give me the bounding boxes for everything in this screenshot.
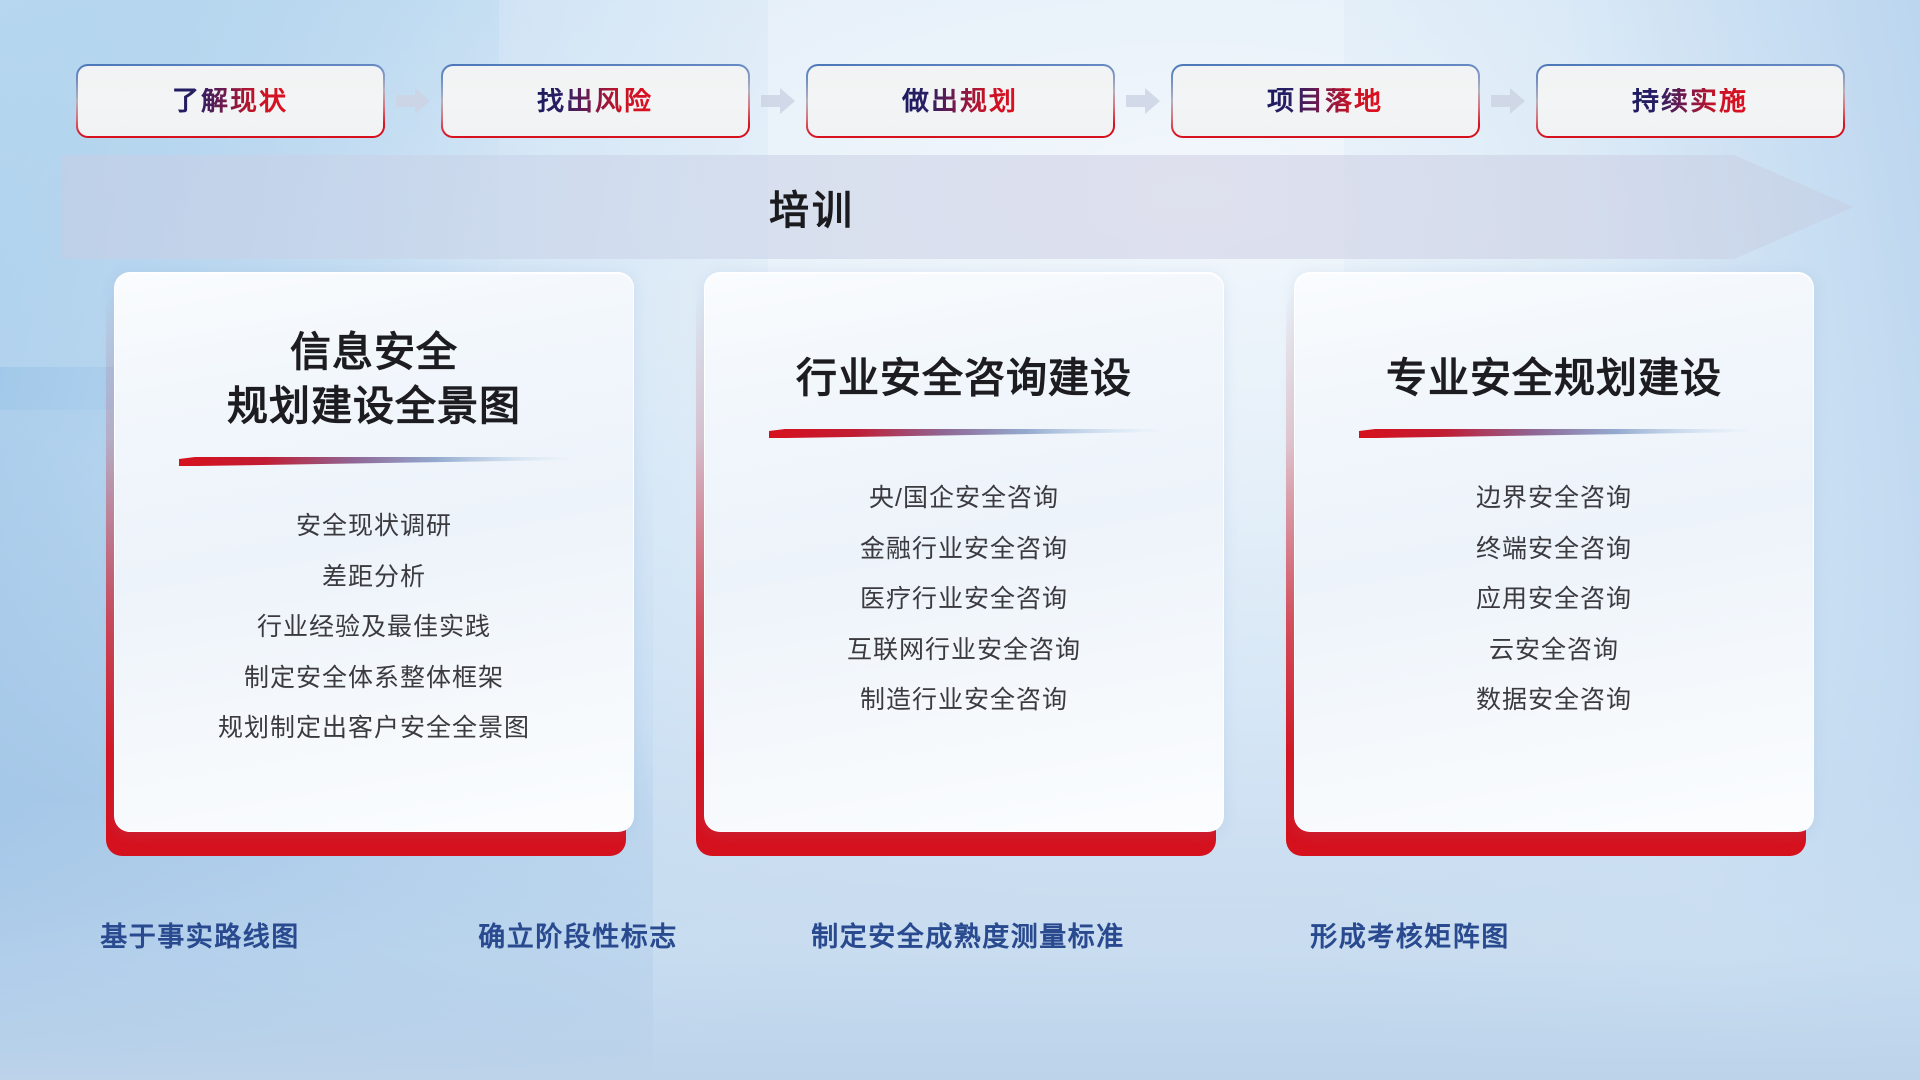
card-title: 信息安全 规划建设全景图	[141, 325, 607, 433]
step-button-2[interactable]: 找出风险	[443, 66, 748, 136]
list-item: 数据安全咨询	[1476, 679, 1632, 722]
step-label: 项目落地	[1267, 88, 1383, 115]
list-item: 安全现状调研	[296, 505, 452, 548]
card-body: 专业安全规划建设边界安全咨询终端安全咨询应用安全咨询云安全咨询数据安全咨询	[1294, 272, 1814, 832]
step-button-5[interactable]: 持续实施	[1538, 66, 1843, 136]
step-label: 持续实施	[1632, 88, 1748, 115]
card-item-list: 边界安全咨询终端安全咨询应用安全咨询云安全咨询数据安全咨询	[1321, 477, 1787, 722]
bottom-label-1: 基于事实路线图	[100, 915, 300, 954]
list-item: 医疗行业安全咨询	[860, 578, 1068, 621]
list-item: 金融行业安全咨询	[860, 528, 1068, 571]
training-banner: 培训	[62, 155, 1854, 259]
bottom-label-3: 制定安全成熟度测量标准	[811, 915, 1125, 954]
card-item-list: 安全现状调研差距分析行业经验及最佳实践制定安全体系整体框架规划制定出客户安全全景…	[141, 505, 607, 750]
card-body: 行业安全咨询建设央/国企安全咨询金融行业安全咨询医疗行业安全咨询互联网行业安全咨…	[704, 272, 1224, 832]
process-steps: 了解现状找出风险做出规划项目落地持续实施	[78, 66, 1843, 136]
tapered-divider-icon	[1359, 429, 1749, 441]
step-button-1[interactable]: 了解现状	[78, 66, 383, 136]
card-3[interactable]: 专业安全规划建设边界安全咨询终端安全咨询应用安全咨询云安全咨询数据安全咨询	[1286, 272, 1814, 872]
list-item: 规划制定出客户安全全景图	[218, 707, 530, 750]
arrow-right-icon	[1491, 88, 1525, 114]
tapered-divider-icon	[769, 429, 1159, 441]
list-item: 差距分析	[322, 556, 426, 599]
list-item: 制造行业安全咨询	[860, 679, 1068, 722]
card-title: 专业安全规划建设	[1321, 325, 1787, 405]
list-item: 央/国企安全咨询	[869, 477, 1059, 520]
tapered-divider-icon	[179, 457, 569, 469]
card-title: 行业安全咨询建设	[731, 325, 1197, 405]
step-button-4[interactable]: 项目落地	[1173, 66, 1478, 136]
step-label: 了解现状	[172, 88, 288, 115]
banner-label: 培训	[62, 155, 1562, 259]
card-item-list: 央/国企安全咨询金融行业安全咨询医疗行业安全咨询互联网行业安全咨询制造行业安全咨…	[731, 477, 1197, 722]
arrow-right-icon	[1126, 88, 1160, 114]
bottom-label-2: 确立阶段性标志	[478, 915, 678, 954]
list-item: 行业经验及最佳实践	[257, 606, 491, 649]
step-label: 做出规划	[902, 88, 1018, 115]
bottom-label-row: 基于事实路线图确立阶段性标志制定安全成熟度测量标准形成考核矩阵图	[0, 915, 1920, 965]
list-item: 互联网行业安全咨询	[847, 629, 1081, 672]
list-item: 边界安全咨询	[1476, 477, 1632, 520]
card-2[interactable]: 行业安全咨询建设央/国企安全咨询金融行业安全咨询医疗行业安全咨询互联网行业安全咨…	[696, 272, 1224, 872]
arrow-right-icon	[396, 88, 430, 114]
card-1[interactable]: 信息安全 规划建设全景图安全现状调研差距分析行业经验及最佳实践制定安全体系整体框…	[106, 272, 634, 872]
step-label: 找出风险	[537, 88, 653, 115]
arrow-right-icon	[761, 88, 795, 114]
process-step-row: 了解现状找出风险做出规划项目落地持续实施	[0, 62, 1920, 140]
card-body: 信息安全 规划建设全景图安全现状调研差距分析行业经验及最佳实践制定安全体系整体框…	[114, 272, 634, 832]
card-row: 信息安全 规划建设全景图安全现状调研差距分析行业经验及最佳实践制定安全体系整体框…	[0, 272, 1920, 872]
list-item: 应用安全咨询	[1476, 578, 1632, 621]
bottom-label-4: 形成考核矩阵图	[1310, 915, 1510, 954]
step-button-3[interactable]: 做出规划	[808, 66, 1113, 136]
list-item: 制定安全体系整体框架	[244, 657, 504, 700]
list-item: 终端安全咨询	[1476, 528, 1632, 571]
list-item: 云安全咨询	[1489, 629, 1619, 672]
